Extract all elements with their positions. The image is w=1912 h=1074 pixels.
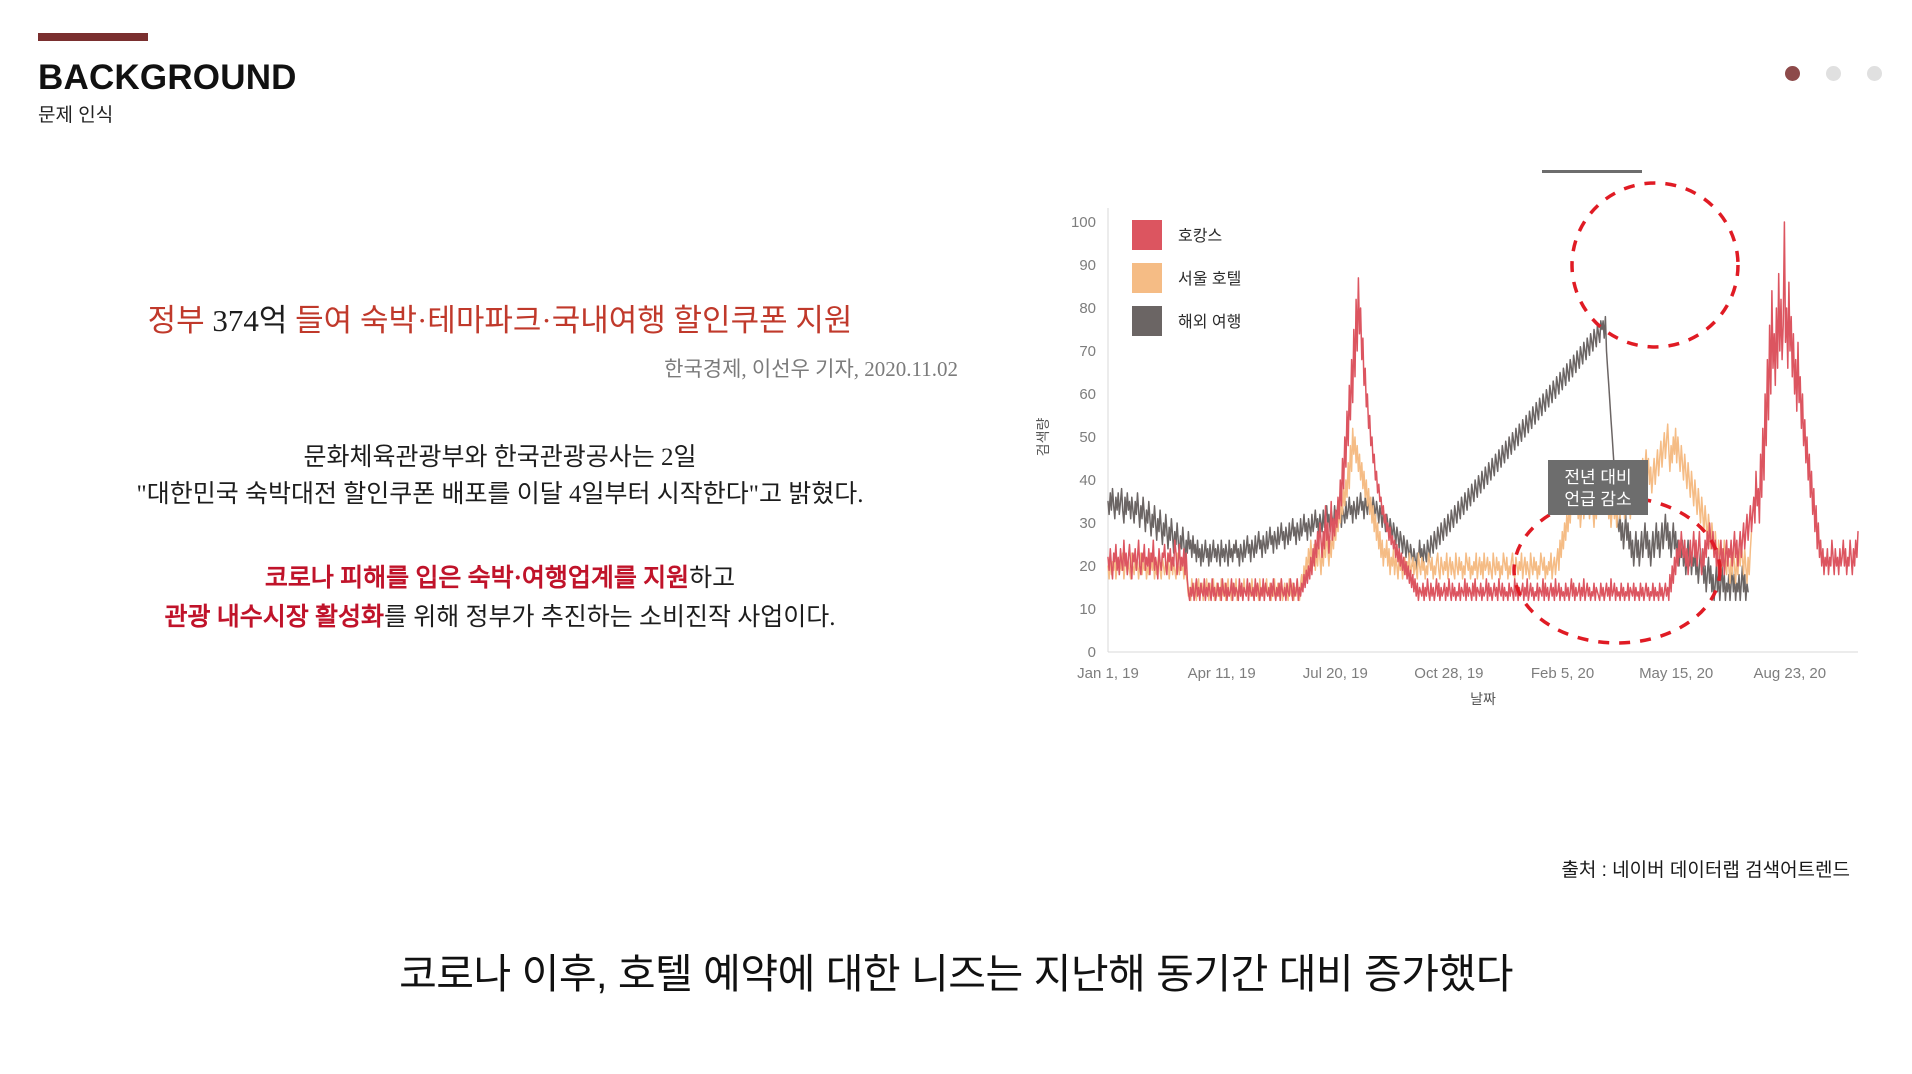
y-tick-label: 90 — [1079, 257, 1096, 274]
series-line-1 — [1108, 424, 1752, 600]
legend-label-1: 서울 호텔 — [1178, 270, 1241, 288]
article-body: 문화체육관광부와 한국관광공사는 2일 "대한민국 숙박대전 할인쿠폰 배포를 … — [0, 439, 1000, 514]
x-tick-label: Jan 1, 19 — [1077, 665, 1139, 682]
article-headline: 정부 374억 들여 숙박·테마파크·국내여행 할인쿠폰 지원 — [0, 300, 1000, 342]
annotation-callout-increase: 전년 대비언급 증가 — [1542, 170, 1642, 173]
pagination-dot-2[interactable] — [1826, 66, 1841, 81]
y-tick-label: 70 — [1079, 343, 1096, 360]
article-body-line-1: 문화체육관광부와 한국관광공사는 2일 — [0, 439, 1000, 477]
x-tick-label: Aug 23, 20 — [1754, 665, 1827, 682]
emphasis-line-2-rest: 를 위해 정부가 추진하는 소비진작 사업이다. — [384, 604, 836, 631]
annotation-callout-decrease: 전년 대비언급 감소 — [1548, 460, 1648, 515]
legend-label-2: 해외 여행 — [1178, 313, 1241, 331]
article-emphasis: 코로나 피해를 입은 숙박·여행업계를 지원하고 관광 내수시장 활성화를 위해… — [0, 560, 1000, 638]
annotation-callout-decrease-line1: 전년 대비 — [1564, 468, 1631, 487]
y-tick-label: 10 — [1079, 601, 1096, 618]
search-trend-chart: 0102030405060708090100검색량Jan 1, 19Apr 11… — [1020, 170, 1880, 730]
y-tick-label: 20 — [1079, 558, 1096, 575]
annotation-marker-increase — [1572, 183, 1738, 347]
x-tick-label: Jul 20, 19 — [1303, 665, 1368, 682]
annotation-callout-increase-box — [1542, 170, 1642, 173]
emphasis-line-2-highlight: 관광 내수시장 활성화 — [164, 604, 384, 631]
emphasis-line-1: 코로나 피해를 입은 숙박·여행업계를 지원하고 — [0, 560, 1000, 599]
legend-swatch-0 — [1132, 220, 1162, 250]
chart-legend: 호캉스서울 호텔해외 여행 — [1132, 220, 1241, 336]
pagination-dot-3[interactable] — [1867, 66, 1882, 81]
annotation-callout-decrease-line2: 언급 감소 — [1564, 490, 1631, 509]
headline-part2: 들여 숙박·테마파크·국내여행 할인쿠폰 지원 — [287, 303, 852, 338]
chart-svg: 0102030405060708090100검색량Jan 1, 19Apr 11… — [1020, 170, 1880, 730]
pagination-dot-1[interactable] — [1785, 66, 1800, 81]
page-subtitle: 문제 인식 — [38, 100, 113, 127]
article-block: 정부 374억 들여 숙박·테마파크·국내여행 할인쿠폰 지원 한국경제, 이선… — [0, 300, 1000, 637]
headline-part1: 정부 — [148, 303, 213, 338]
legend-swatch-2 — [1132, 306, 1162, 336]
page-title: BACKGROUND — [38, 60, 297, 97]
y-tick-label: 30 — [1079, 515, 1096, 532]
x-tick-label: Feb 5, 20 — [1531, 665, 1594, 682]
headline-amount: 374억 — [212, 303, 287, 338]
accent-bar — [38, 33, 148, 41]
legend-label-0: 호캉스 — [1178, 227, 1222, 245]
emphasis-line-1-highlight: 코로나 피해를 입은 숙박·여행업계를 지원 — [265, 565, 689, 592]
x-tick-label: Oct 28, 19 — [1414, 665, 1483, 682]
x-tick-label: Apr 11, 19 — [1188, 665, 1256, 682]
chart-source-label: 출처 : 네이버 데이터랩 검색어트렌드 — [1020, 855, 1880, 882]
y-tick-label: 0 — [1088, 644, 1096, 661]
y-tick-label: 50 — [1079, 429, 1096, 446]
article-byline: 한국경제, 이선우 기자, 2020.11.02 — [0, 353, 1000, 383]
emphasis-line-1-rest: 하고 — [689, 565, 735, 592]
x-axis-title: 날짜 — [1470, 691, 1496, 707]
legend-swatch-1 — [1132, 263, 1162, 293]
y-tick-label: 60 — [1079, 386, 1096, 403]
pagination-dots[interactable] — [1785, 66, 1882, 81]
y-tick-label: 80 — [1079, 300, 1096, 317]
y-tick-label: 100 — [1071, 214, 1096, 231]
y-axis-title: 검색량 — [1035, 418, 1051, 457]
x-tick-label: May 15, 20 — [1639, 665, 1713, 682]
emphasis-line-2: 관광 내수시장 활성화를 위해 정부가 추진하는 소비진작 사업이다. — [0, 599, 1000, 638]
article-body-line-2: "대한민국 숙박대전 할인쿠폰 배포를 이달 4일부터 시작한다"고 밝혔다. — [0, 476, 1000, 514]
slide-caption: 코로나 이후, 호텔 예약에 대한 니즈는 지난해 동기간 대비 증가했다 — [0, 940, 1912, 1000]
y-tick-label: 40 — [1079, 472, 1096, 489]
